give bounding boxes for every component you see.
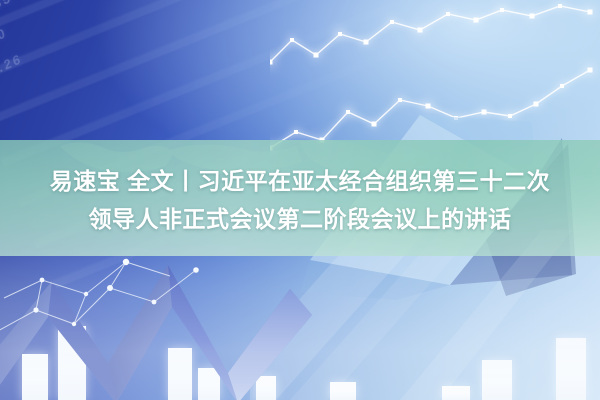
title-line-1: 易速宝 全文丨习近平在亚太经合组织第三十二次 bbox=[0, 162, 600, 200]
banner-title: 易速宝 全文丨习近平在亚太经合组织第三十二次 领导人非正式会议第二阶段会议上的讲… bbox=[0, 162, 600, 238]
banner-image: -02.36 -21.02 +45.02-09.36 -11.26 4.362.… bbox=[0, 0, 600, 400]
title-line-2: 领导人非正式会议第二阶段会议上的讲话 bbox=[0, 200, 600, 238]
